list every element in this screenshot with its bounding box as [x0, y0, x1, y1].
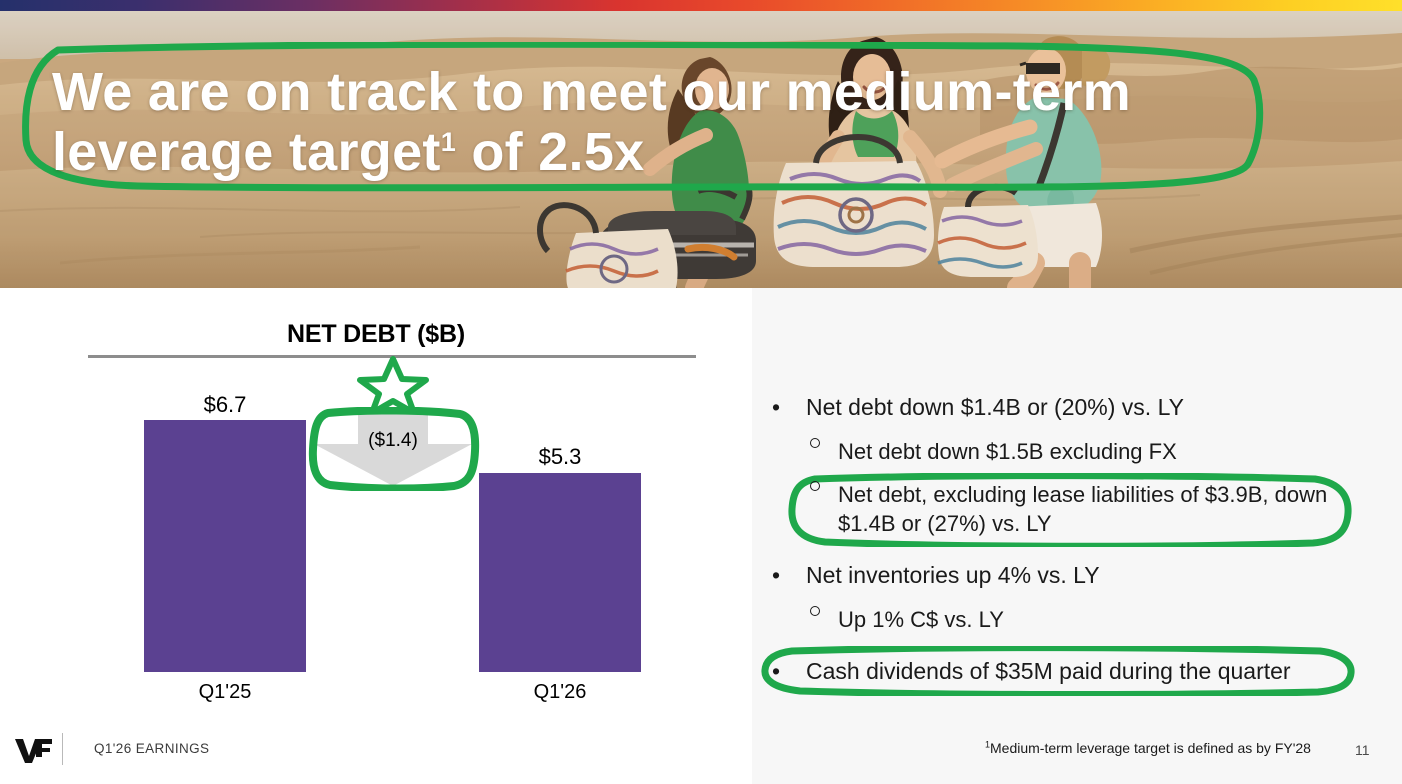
bullet-dot-icon: • — [772, 656, 780, 686]
bullet-text-5: Up 1% C$ vs. LY — [838, 607, 1004, 632]
bullet-item-4: • Net inventories up 4% vs. LY — [806, 560, 1366, 590]
delta-value-label: ($1.4) — [314, 430, 472, 452]
title-footnote-marker: 1 — [441, 127, 456, 157]
footnote-text: Medium-term leverage target is defined a… — [990, 740, 1311, 756]
bullet-text-6: Cash dividends of $35M paid during the q… — [806, 658, 1291, 684]
bullet-item-3: Net debt, excluding lease liabilities of… — [838, 480, 1363, 538]
footer-divider — [62, 733, 63, 765]
sub-bullet-circle-icon — [810, 606, 820, 616]
bullet-dot-icon: • — [772, 560, 780, 590]
bullet-item-6: • Cash dividends of $35M paid during the… — [806, 656, 1376, 686]
bar-q1-25 — [144, 420, 306, 672]
bullet-text-3: Net debt, excluding lease liabilities of… — [838, 482, 1327, 536]
bullet-item-1: • Net debt down $1.4B or (20%) vs. LY — [806, 392, 1366, 422]
bar-q1-26 — [479, 473, 641, 672]
bullet-text-2: Net debt down $1.5B excluding FX — [838, 439, 1177, 464]
bullet-text-1: Net debt down $1.4B or (20%) vs. LY — [806, 394, 1184, 420]
title-line-1: We are on track to meet our medium-term — [52, 62, 1131, 122]
bullet-item-2: Net debt down $1.5B excluding FX — [838, 437, 1368, 466]
footer-label: Q1'26 EARNINGS — [94, 741, 209, 756]
bullet-list: • Net debt down $1.4B or (20%) vs. LY Ne… — [752, 288, 1402, 784]
sub-bullet-circle-icon — [810, 438, 820, 448]
sub-bullet-circle-icon — [810, 481, 820, 491]
bullet-dot-icon: • — [772, 392, 780, 422]
bar-value-q1-26: $5.3 — [479, 444, 641, 470]
vf-logo-icon — [14, 736, 56, 764]
title-line-2-post: of 2.5x — [456, 122, 644, 182]
bullet-text-4: Net inventories up 4% vs. LY — [806, 562, 1100, 588]
bar-category-q1-26: Q1'26 — [479, 681, 641, 704]
bullet-item-5: Up 1% C$ vs. LY — [838, 605, 1368, 634]
bar-value-q1-25: $6.7 — [144, 392, 306, 418]
page-title: We are on track to meet our medium-term … — [52, 62, 1262, 182]
chart-title: NET DEBT ($B) — [0, 320, 752, 349]
slide: We are on track to meet our medium-term … — [0, 0, 1402, 784]
bar-category-q1-25: Q1'25 — [144, 681, 306, 704]
star-highlight-icon — [355, 356, 431, 414]
footnote: 1Medium-term leverage target is defined … — [985, 740, 1311, 756]
brand-gradient-bar — [0, 0, 1402, 11]
page-number: 11 — [1355, 742, 1370, 758]
title-line-2-pre: leverage target — [52, 122, 441, 182]
